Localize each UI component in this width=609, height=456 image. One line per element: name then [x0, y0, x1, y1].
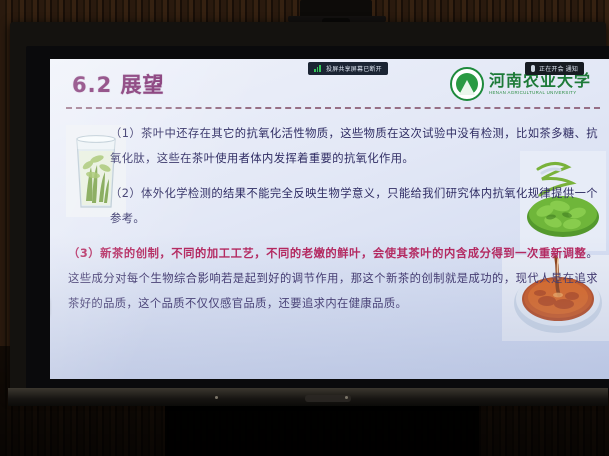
room-scene: 6.2 展望 河南农业大学 HENAN AGRICULTURAL UNIVERS…	[0, 0, 609, 456]
rail-indicator-dot	[345, 396, 348, 399]
signal-bars-icon	[314, 65, 322, 72]
paragraph-2: （2）体外化学检测的结果不能完全反映生物学意义，只能给我们研究体内抗氧化规律提供…	[68, 181, 598, 231]
page-title: 6.2 展望	[72, 69, 165, 99]
paragraph-3: （3）新茶的创制，不同的加工工艺，不同的老嫩的鲜叶，会使其茶叶的内含成分得到一次…	[68, 241, 598, 316]
screen-share-status[interactable]: 投屏共享屏幕已断开	[308, 62, 388, 75]
slide-screen[interactable]: 6.2 展望 河南农业大学 HENAN AGRICULTURAL UNIVERS…	[50, 59, 609, 379]
meeting-status[interactable]: 正在开会 通知	[525, 62, 584, 75]
slide-body: （1）茶叶中还存在其它的抗氧化活性物质，这些物质在这次试验中没有检测，比如茶多糖…	[68, 121, 598, 326]
microphone-icon	[531, 65, 535, 72]
paragraph-3-marker: （3）	[68, 247, 100, 260]
paragraph-3-highlight: 新茶的创制，不同的加工工艺，不同的老嫩的鲜叶，会使其茶叶的内含成分得到一次重新调…	[100, 247, 586, 260]
logo-inner-circle	[456, 73, 478, 95]
rail-indicator-dot	[215, 396, 218, 399]
meeting-status-label: 正在开会 通知	[539, 64, 578, 73]
logo-emblem-icon	[450, 67, 484, 101]
title-divider	[66, 107, 600, 109]
logo-name-cn: 河南农业大学	[489, 73, 591, 90]
screen-share-status-label: 投屏共享屏幕已断开	[326, 64, 382, 73]
logo-triangle-icon	[459, 80, 475, 95]
paragraph-1: （1）茶叶中还存在其它的抗氧化活性物质，这些物质在这次试验中没有检测，比如茶多糖…	[68, 121, 598, 171]
display-frame: 6.2 展望 河南农业大学 HENAN AGRICULTURAL UNIVERS…	[10, 22, 606, 397]
logo-name-en: HENAN AGRICULTURAL UNIVERSITY	[489, 90, 591, 95]
